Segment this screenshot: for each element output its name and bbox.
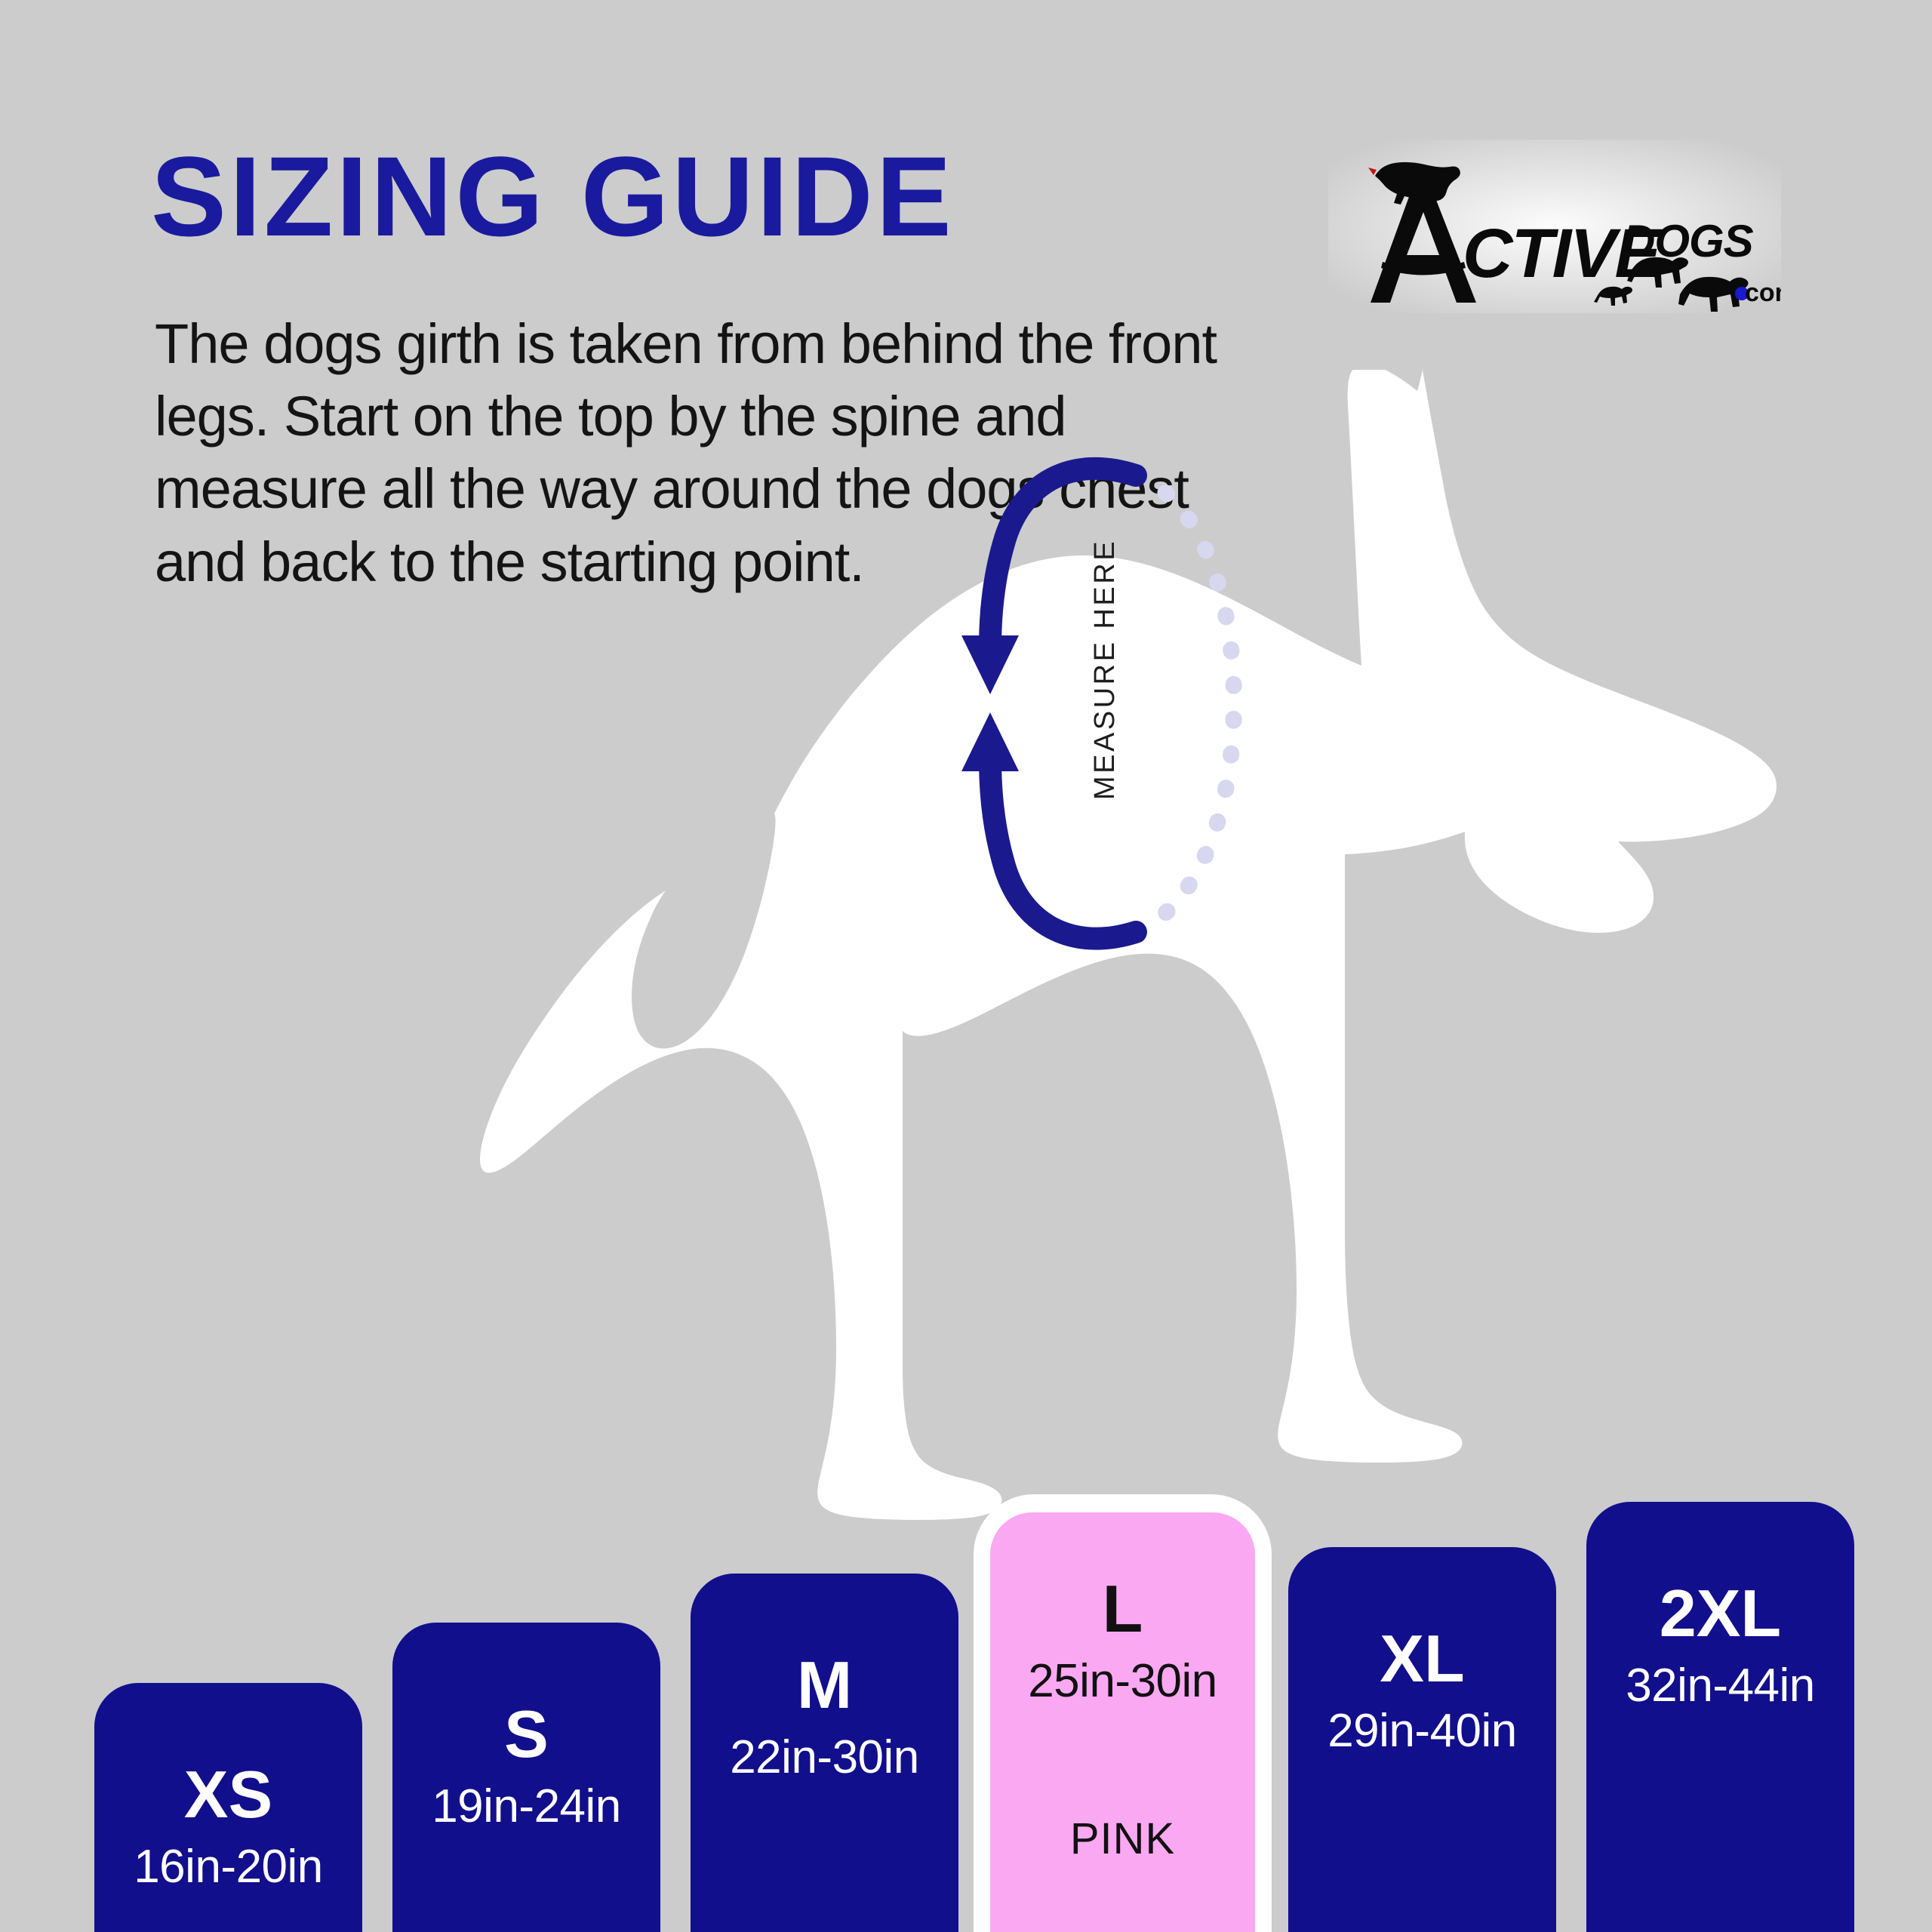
size-card-xl-range: 29in-40in <box>1288 1704 1556 1758</box>
size-card-2xl-range: 32in-44in <box>1586 1659 1854 1712</box>
size-card-xs-label: XS <box>94 1761 362 1828</box>
size-card-xl-label: XL <box>1288 1626 1556 1692</box>
size-cards-row: XS 16in-20in S 19in-24in M 22in-30in L 2… <box>0 0 1932 1932</box>
size-card-xs-range: 16in-20in <box>94 1840 362 1894</box>
size-card-l[interactable]: L 25in-30in PINK <box>990 1512 1255 1932</box>
size-card-l-note: PINK <box>990 1814 1255 1864</box>
size-card-xs[interactable]: XS 16in-20in <box>94 1683 362 1932</box>
size-card-m-range: 22in-30in <box>691 1730 958 1784</box>
size-card-s[interactable]: S 19in-24in <box>392 1623 660 1932</box>
size-card-m[interactable]: M 22in-30in <box>691 1574 958 1932</box>
size-card-m-label: M <box>691 1652 958 1718</box>
size-card-s-label: S <box>392 1701 660 1767</box>
size-card-2xl-label: 2XL <box>1586 1580 1854 1647</box>
sizing-guide-infographic: SIZING GUIDE The dogs girth is taken fro… <box>0 0 1932 1932</box>
size-card-l-label: L <box>990 1576 1255 1642</box>
size-card-xl[interactable]: XL 29in-40in <box>1288 1547 1556 1932</box>
size-card-2xl[interactable]: 2XL 32in-44in <box>1586 1502 1854 1932</box>
size-card-l-range: 25in-30in <box>990 1654 1255 1708</box>
size-card-s-range: 19in-24in <box>392 1780 660 1833</box>
